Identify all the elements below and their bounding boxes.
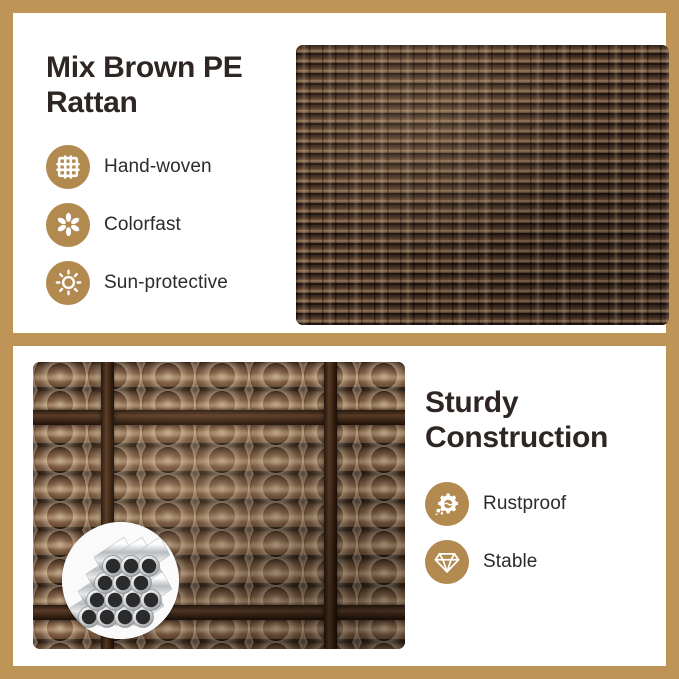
rattan-texture-fine xyxy=(296,45,669,325)
frame-border-left xyxy=(0,0,13,679)
feature-label: Hand-woven xyxy=(104,156,212,178)
frame-border-top xyxy=(0,0,679,13)
feature-item-hand-woven: Hand-woven xyxy=(46,145,291,189)
product-infographic: Mix Brown PE Rattan xyxy=(0,0,679,679)
top-panel-text-column: Mix Brown PE Rattan xyxy=(46,50,291,305)
feature-item-colorfast: Colorfast xyxy=(46,203,291,247)
sun-rays-icon xyxy=(46,261,90,305)
feature-item-rustproof: Rustproof xyxy=(425,482,650,526)
page-title-sturdy-construction: Sturdy Construction xyxy=(425,385,650,456)
feature-item-sun-protective: Sun-protective xyxy=(46,261,291,305)
photo-vignette xyxy=(296,45,669,325)
frame-divider-middle xyxy=(13,333,666,346)
bottom-panel-text-column: Sturdy Construction xyxy=(425,385,650,584)
rattan-weave-closeup-photo xyxy=(296,45,669,325)
feature-label: Colorfast xyxy=(104,214,181,236)
feature-label: Rustproof xyxy=(483,493,566,515)
flower-petals-icon xyxy=(46,203,90,247)
diamond-gem-icon xyxy=(425,540,469,584)
feature-label: Sun-protective xyxy=(104,272,228,294)
feature-label: Stable xyxy=(483,551,537,573)
feature-list-rattan: Hand-woven xyxy=(46,145,291,305)
feature-item-stable: Stable xyxy=(425,540,650,584)
gear-rust-icon xyxy=(425,482,469,526)
steel-tubes-inset xyxy=(62,522,179,639)
frame-border-bottom xyxy=(0,666,679,679)
panel-mix-brown-pe-rattan: Mix Brown PE Rattan xyxy=(13,13,666,333)
page-title-mix-brown-pe-rattan: Mix Brown PE Rattan xyxy=(46,50,291,121)
weave-grid-icon xyxy=(46,145,90,189)
feature-list-construction: Rustproof Stable xyxy=(425,482,650,584)
